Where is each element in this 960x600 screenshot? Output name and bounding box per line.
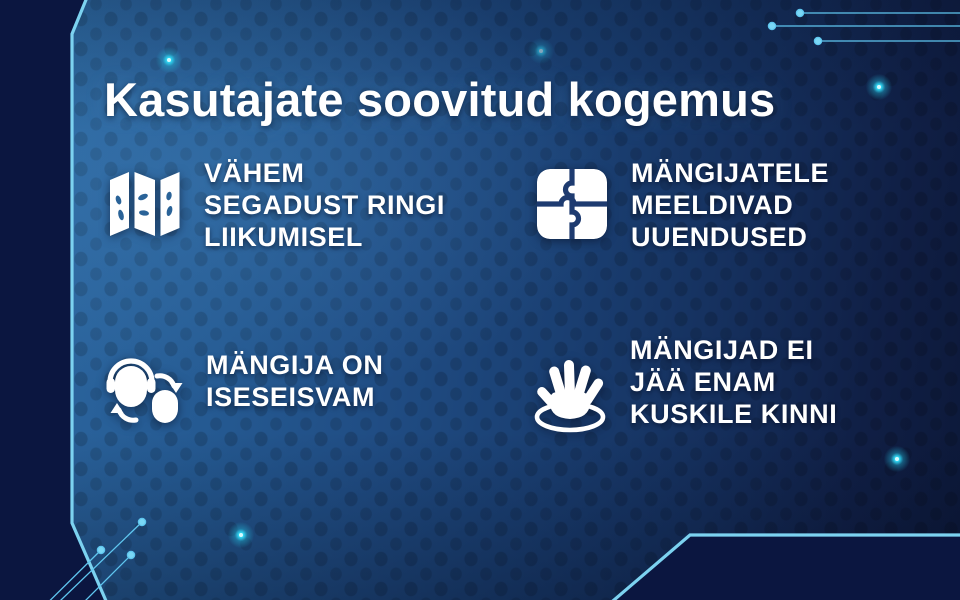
- map-icon: [108, 166, 182, 247]
- feature-label: VÄHEM SEGADUST RINGI LIIKUMISEL: [204, 158, 445, 254]
- headset-swap-icon: [106, 354, 186, 433]
- feature-label: MÄNGIJAD EI JÄÄ ENAM KUSKILE KINNI: [630, 335, 837, 431]
- feature-item-players-no-longer-stuck: MÄNGIJAD EI JÄÄ ENAM KUSKILE KINNI: [528, 335, 837, 440]
- hand-in-hole-icon: [528, 357, 612, 440]
- feature-item-less-confusion-navigating: VÄHEM SEGADUST RINGI LIIKUMISEL: [108, 158, 445, 254]
- feature-item-player-more-independent: MÄNGIJA ON ISESEISVAM: [106, 350, 384, 433]
- feature-item-players-like-updates: MÄNGIJATELE MEELDIVAD UUENDUSED: [535, 158, 829, 254]
- puzzle-icon: [535, 166, 609, 247]
- feature-label: MÄNGIJATELE MEELDIVAD UUENDUSED: [631, 158, 829, 254]
- page-title: Kasutajate soovitud kogemus: [104, 72, 775, 127]
- slide-canvas: Kasutajate soovitud kogemus: [0, 0, 960, 600]
- feature-label: MÄNGIJA ON ISESEISVAM: [206, 350, 384, 414]
